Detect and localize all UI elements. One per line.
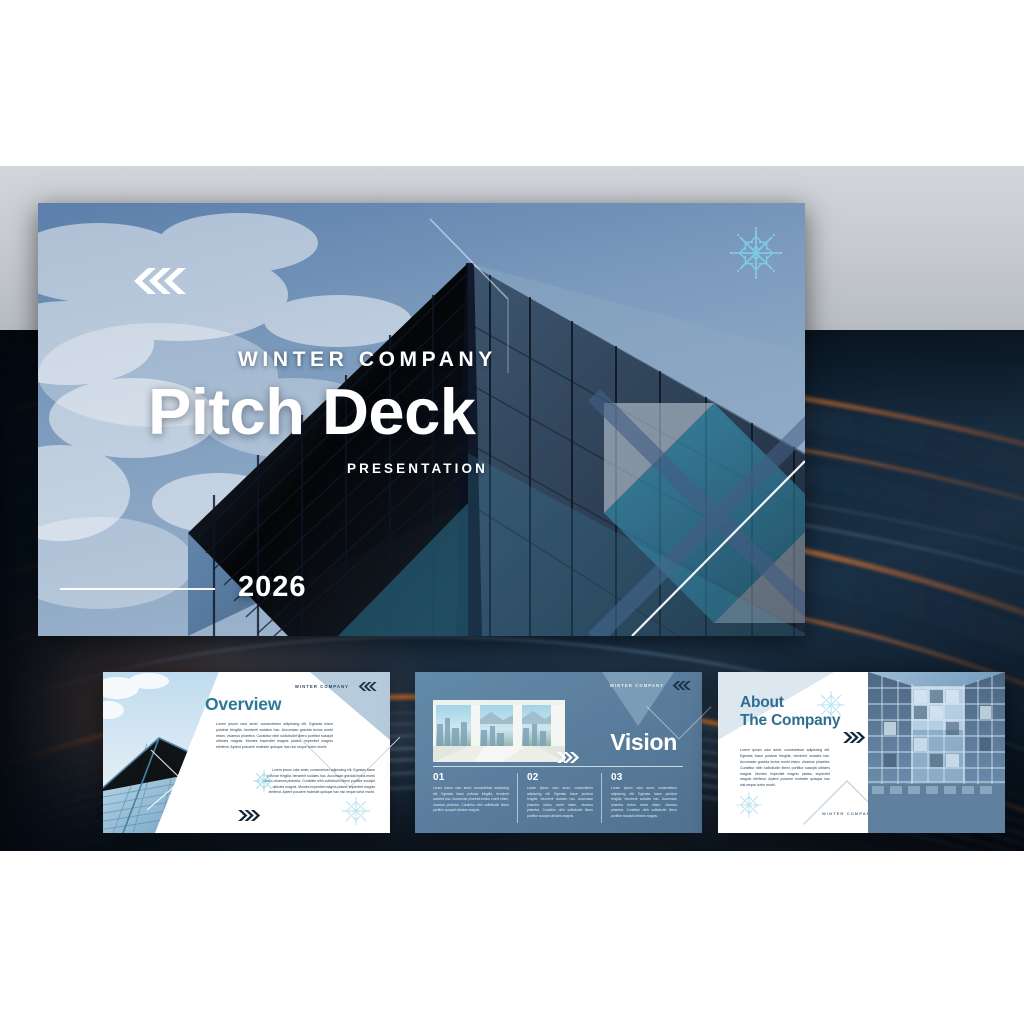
canvas-bottom-margin: [0, 851, 1024, 1024]
overview-title: Overview: [205, 694, 281, 715]
vision-column: 02 Lorem ipsum odor amet, consectetuer a…: [517, 772, 601, 819]
about-facade-photo: [868, 672, 1005, 796]
vision-interior-photo: [433, 700, 565, 762]
vision-column: 01 Lorem ipsum odor amet, consectetuer a…: [433, 772, 517, 819]
hero-kicker: WINTER COMPANY: [238, 348, 497, 372]
vision-photo-graphic: [433, 700, 565, 762]
presentation-mockup-stage: WINTER COMPANY Pitch Deck PRESENTATION 2…: [0, 0, 1024, 1024]
chevrons-left-icon[interactable]: [130, 268, 186, 294]
vision-column-text: Lorem ipsum odor amet, consectetuer adip…: [527, 786, 593, 819]
vision-column-text: Lorem ipsum odor amet, consectetuer adip…: [433, 786, 509, 814]
hero-divider-rule: [60, 588, 215, 590]
vision-column-text: Lorem ipsum odor amet, consectetuer adip…: [611, 786, 677, 819]
canvas-top-margin: [0, 0, 1024, 166]
chevrons-right-icon[interactable]: [237, 810, 263, 821]
thumbnail-slide-overview[interactable]: WINTER COMPANY Overview Lorem ipsum odor…: [103, 672, 390, 833]
about-paragraph: Lorem ipsum odor amet, consectetuer adip…: [740, 748, 830, 789]
overview-corner-label: WINTER COMPANY: [295, 684, 349, 689]
about-bottom-label: WINTER COMPANY: [822, 811, 874, 816]
chevrons-left-icon[interactable]: [356, 682, 378, 691]
thumbnail-slide-about[interactable]: About The Company Lorem ipsum odor amet,…: [718, 672, 1005, 833]
vision-title: Vision: [610, 729, 677, 756]
hero-year: 2026: [238, 571, 307, 604]
hero-subtitle: PRESENTATION: [347, 461, 488, 476]
about-photo-footer-band: [868, 796, 1005, 833]
vision-divider-rule: [433, 766, 683, 767]
chevrons-left-icon[interactable]: [670, 681, 692, 690]
vision-column-number: 01: [433, 772, 509, 783]
overview-paragraph-2: Lorem ipsum odor amet, consectetuer adip…: [263, 768, 375, 796]
about-title: About The Company: [740, 694, 840, 731]
vision-corner-label: WINTER COMPANY: [610, 683, 664, 688]
overview-paragraph-1: Lorem ipsum odor amet, consectetuer adip…: [216, 722, 333, 751]
about-photo-graphic: [868, 672, 1005, 796]
vision-column: 03 Lorem ipsum odor amet, consectetuer a…: [601, 772, 685, 819]
vision-column-number: 02: [527, 772, 593, 783]
snowflake-icon: [339, 794, 373, 828]
hero-slide-title[interactable]: WINTER COMPANY Pitch Deck PRESENTATION 2…: [38, 203, 805, 636]
vision-column-number: 03: [611, 772, 677, 783]
about-title-line2: The Company: [740, 712, 840, 729]
page-title: Pitch Deck: [148, 379, 475, 445]
chevrons-right-icon[interactable]: [556, 752, 582, 763]
vision-columns: 01 Lorem ipsum odor amet, consectetuer a…: [433, 772, 685, 819]
about-title-line1: About: [740, 694, 784, 711]
chevrons-right-icon[interactable]: [842, 732, 868, 743]
thumbnail-slide-vision[interactable]: WINTER COMPANY: [415, 672, 702, 833]
